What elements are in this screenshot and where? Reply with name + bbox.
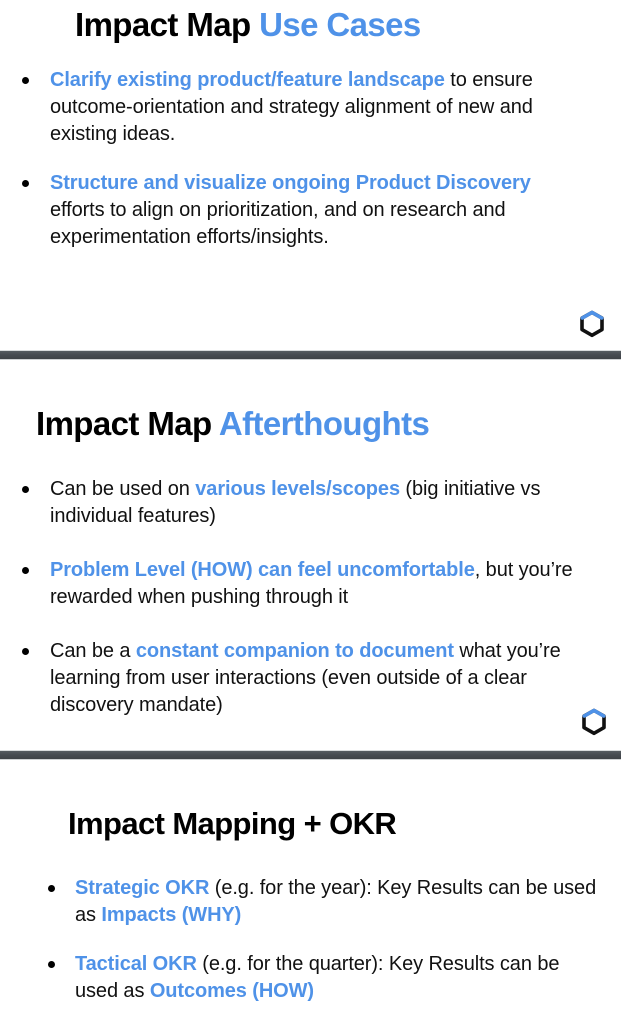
page-title-slide-1: Impact Map Use Cases	[0, 0, 621, 43]
slide-impact-mapping-plus-okr: Impact Mapping + OKR Strategic OKR (e.g.…	[0, 760, 621, 1024]
hexagon-logo-icon	[581, 708, 607, 736]
hexagon-logo-icon	[579, 310, 605, 338]
bullet-prefix-text: Can be used on	[50, 478, 195, 500]
bullet-highlight-lead: Tactical OKR	[75, 953, 197, 975]
title-accent-text: Afterthoughts	[219, 405, 429, 442]
slide-impact-map-use-cases: Impact Map Use Cases Clarify existing pr…	[0, 0, 621, 350]
page-title-slide-2: Impact Map Afterthoughts	[0, 360, 621, 442]
list-item: Structure and visualize ongoing Product …	[0, 170, 621, 251]
title-main-text: Impact Map	[75, 6, 259, 43]
list-item: Clarify existing product/feature landsca…	[0, 67, 621, 148]
list-item: Strategic OKR (e.g. for the year): Key R…	[0, 875, 621, 929]
bullet-list-slide-2: Can be used on various levels/scopes (bi…	[0, 442, 621, 719]
slide-deck: Impact Map Use Cases Clarify existing pr…	[0, 0, 621, 1024]
list-item: Problem Level (HOW) can feel uncomfortab…	[0, 557, 621, 611]
bullet-highlight-tail: Outcomes (HOW)	[150, 980, 314, 1002]
bullet-lead-text: Clarify existing product/feature landsca…	[50, 69, 445, 91]
title-main-text: Impact Mapping + OKR	[68, 806, 396, 841]
list-item: Can be used on various levels/scopes (bi…	[0, 476, 621, 530]
page-title-slide-3: Impact Mapping + OKR	[0, 760, 621, 841]
bullet-highlight-tail: Impacts (WHY)	[101, 904, 241, 926]
bullet-highlight-text: Problem Level (HOW) can feel uncomfortab…	[50, 559, 475, 581]
bullet-lead-text: Structure and visualize ongoing Product …	[50, 172, 531, 194]
slide-impact-map-afterthoughts: Impact Map Afterthoughts Can be used on …	[0, 360, 621, 750]
slide-divider	[0, 750, 621, 760]
slide-divider	[0, 350, 621, 360]
bullet-list-slide-1: Clarify existing product/feature landsca…	[0, 43, 621, 251]
title-main-text: Impact Map	[36, 405, 219, 442]
bullet-highlight-text: various levels/scopes	[195, 478, 400, 500]
title-accent-text: Use Cases	[259, 6, 421, 43]
list-item: Tactical OKR (e.g. for the quarter): Key…	[0, 951, 621, 1005]
bullet-highlight-lead: Strategic OKR	[75, 877, 209, 899]
list-item: Can be a constant companion to document …	[0, 638, 621, 719]
bullet-prefix-text: Can be a	[50, 640, 136, 662]
bullet-body-text: efforts to align on prioritization, and …	[50, 199, 506, 248]
bullet-list-slide-3: Strategic OKR (e.g. for the year): Key R…	[0, 841, 621, 1005]
bullet-highlight-text: constant companion to document	[136, 640, 454, 662]
